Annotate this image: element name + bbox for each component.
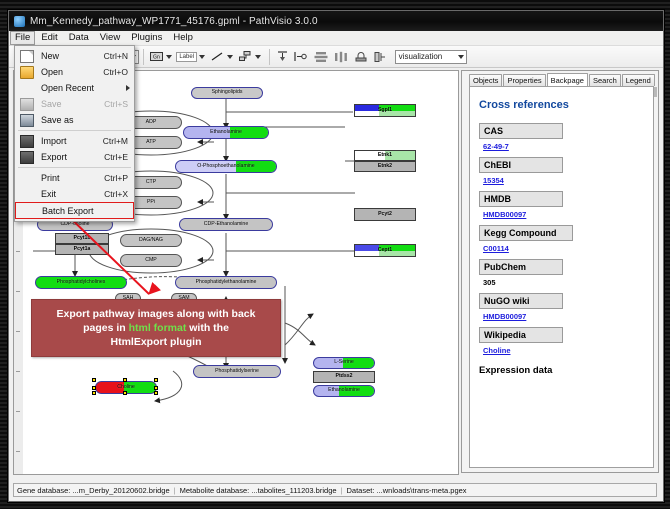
menu-edit[interactable]: Edit (36, 31, 62, 45)
status-separator: | (341, 486, 343, 495)
gene-pcyt1a[interactable]: Pcyt1a (55, 244, 109, 255)
backpage-content: Cross references CAS 62-49-7 ChEBI 15354… (469, 86, 654, 468)
visualization-select[interactable]: visualization (395, 50, 467, 64)
menu-file[interactable]: File (10, 31, 35, 45)
selection-handle[interactable] (154, 378, 158, 382)
label-tool-label: Label (176, 52, 197, 62)
xref-name: CAS (479, 123, 563, 139)
menu-item-exit[interactable]: Exit Ctrl+X (15, 186, 134, 202)
annotation-line-2: pages in html format with the (83, 321, 229, 335)
gene-pcyt2[interactable]: Pcyt2 (354, 208, 416, 221)
xref-nugo-wiki: NuGO wiki HMDB00097 (479, 293, 644, 323)
status-separator: | (174, 486, 176, 495)
menu-divider (18, 167, 131, 168)
node-sphingolipids[interactable]: Sphingolipids (191, 87, 263, 99)
pathvisio-icon (14, 16, 25, 27)
node-phosphatidylserine[interactable]: Phosphatidylserine (193, 365, 281, 378)
node-ethanolamine[interactable]: Ethanolamine (183, 126, 269, 139)
line-dropdown-icon[interactable] (227, 55, 233, 59)
menu-item-save-as[interactable]: Save as (15, 112, 134, 128)
interaction-dropdown-icon[interactable] (255, 55, 261, 59)
interaction-tool-icon[interactable] (237, 49, 254, 65)
xref-value-link[interactable]: 15354 (479, 173, 644, 187)
pathvisio-window: Mm_Kennedy_pathway_WP1771_45176.gpml - P… (8, 10, 664, 502)
tab-objects[interactable]: Objects (469, 74, 502, 86)
menu-item-export[interactable]: Export Ctrl+E (15, 149, 134, 165)
xref-value-link[interactable]: HMDB00097 (479, 207, 644, 221)
gene-pcyt1b[interactable]: Pcyt1b (55, 233, 109, 244)
line-tool-icon[interactable] (209, 49, 226, 65)
node-ethanolamine-2[interactable]: Ethanolamine (313, 385, 375, 397)
align-top-tool-icon[interactable] (274, 49, 291, 65)
xref-hmdb: HMDB HMDB00097 (479, 191, 644, 221)
gene-product-dropdown-icon[interactable] (166, 55, 172, 59)
open-folder-icon (19, 66, 35, 79)
xref-pubchem: PubChem 305 (479, 259, 644, 289)
import-icon (19, 135, 35, 148)
xref-wikipedia: Wikipedia Choline (479, 327, 644, 357)
dataset-value: ...wnloads\trans-meta.pgex (377, 486, 467, 495)
xref-name: Wikipedia (479, 327, 563, 343)
xref-name: ChEBI (479, 157, 563, 173)
gene-cept1[interactable]: Cept1 (354, 244, 416, 257)
menu-bar: File Edit Data View Plugins Help (9, 31, 663, 46)
status-bar: Gene database: ...m_Derby_20120602.bridg… (13, 483, 657, 497)
export-icon (19, 151, 35, 164)
align-left-tool-icon[interactable] (291, 49, 311, 65)
xref-value-link[interactable]: 62-49-7 (479, 139, 644, 153)
metabolite-database-label: Metabolite database: (180, 486, 250, 495)
xref-kegg-compound: Kegg Compound C00114 (479, 225, 644, 255)
label-tool-icon[interactable]: Label (176, 49, 198, 65)
selection-handle[interactable] (92, 391, 96, 395)
gene-database-value: ...m_Derby_20120602.bridge (72, 486, 169, 495)
node-phosphatidylcholines[interactable]: Phosphatidylcholines (35, 276, 127, 289)
xref-name: NuGO wiki (479, 293, 563, 309)
tab-properties[interactable]: Properties (503, 74, 545, 86)
selection-handle[interactable] (154, 391, 158, 395)
window-title-bar: Mm_Kennedy_pathway_WP1771_45176.gpml - P… (9, 11, 663, 31)
xref-name: Kegg Compound (479, 225, 573, 241)
label-dropdown-icon[interactable] (199, 55, 205, 59)
gene-ptdss2[interactable]: Ptdss2 (313, 371, 375, 383)
xref-value-link[interactable]: C00114 (479, 241, 644, 255)
group-tool-icon[interactable] (351, 49, 371, 65)
gene-sgpl1[interactable]: Sgpl1 (354, 104, 416, 117)
annotation-line-2-post: with the (186, 322, 229, 334)
xref-value: 305 (479, 275, 644, 289)
toolbar-separator (143, 49, 144, 65)
chevron-down-icon (458, 55, 464, 59)
node-cmp[interactable]: CMP (120, 254, 182, 267)
menu-item-print[interactable]: Print Ctrl+P (15, 170, 134, 186)
annotation-line-3: HtmlExport plugin (111, 335, 202, 349)
distribute-tool-icon[interactable] (331, 49, 351, 65)
save-as-icon (19, 114, 35, 127)
menu-item-save: Save Ctrl+S (15, 96, 134, 112)
xref-chebi: ChEBI 15354 (479, 157, 644, 187)
window-title: Mm_Kennedy_pathway_WP1771_45176.gpml - P… (30, 16, 318, 27)
menu-item-open[interactable]: Open Ctrl+O (15, 64, 134, 80)
svg-text:Gn: Gn (153, 55, 160, 61)
gene-etnk1[interactable]: Etnk1 (354, 150, 416, 161)
gene-product-tool-icon[interactable]: Gn (148, 49, 165, 65)
selection-handle[interactable] (92, 386, 96, 390)
node-phosphatidylethanolamine[interactable]: Phosphatidylethanolamine (175, 276, 277, 289)
xref-name: PubChem (479, 259, 563, 275)
menu-item-open-recent[interactable]: Open Recent (15, 80, 134, 96)
annotation-banner: Export pathway images along with back pa… (31, 299, 281, 357)
panel-scrollbar[interactable] (654, 87, 657, 97)
tab-backpage[interactable]: Backpage (547, 73, 588, 87)
selection-handle[interactable] (154, 386, 158, 390)
selection-handle[interactable] (123, 378, 127, 382)
menu-plugins[interactable]: Plugins (126, 31, 167, 45)
dataset-label: Dataset: (346, 486, 374, 495)
toolbar-separator (269, 49, 270, 65)
xref-cas: CAS 62-49-7 (479, 123, 644, 153)
menu-data[interactable]: Data (64, 31, 94, 45)
annotation-line-1: Export pathway images along with back (57, 307, 256, 321)
gene-database-label: Gene database: (17, 486, 70, 495)
menu-item-batch-export[interactable]: Batch Export (15, 202, 134, 219)
visualization-value: visualization (399, 52, 443, 61)
selection-handle[interactable] (123, 391, 127, 395)
xref-value-link[interactable]: Choline (479, 343, 644, 357)
menu-item-new[interactable]: New Ctrl+N (15, 48, 134, 64)
node-dag[interactable]: DAG/NAG (120, 234, 182, 247)
new-document-icon (19, 50, 35, 63)
menu-view[interactable]: View (95, 31, 125, 45)
selection-handle[interactable] (92, 378, 96, 382)
xref-name: HMDB (479, 191, 563, 207)
node-l-serine[interactable]: L-Serine (313, 357, 375, 369)
tab-search[interactable]: Search (589, 74, 621, 86)
metabolite-database-value: ...tabolites_111203.bridge (251, 486, 336, 495)
stack-tool-icon[interactable] (311, 49, 331, 65)
annotation-line-2-pre: pages in (83, 322, 129, 334)
xref-value-link[interactable]: HMDB00097 (479, 309, 644, 323)
desktop-backdrop: Mm_Kennedy_pathway_WP1771_45176.gpml - P… (0, 0, 670, 509)
menu-item-import[interactable]: Import Ctrl+M (15, 133, 134, 149)
visualization-tool-icon[interactable] (371, 49, 391, 65)
menu-divider (18, 130, 131, 131)
node-cdp-ethanolamine[interactable]: CDP-Ethanolamine (179, 218, 273, 231)
expression-data-heading: Expression data (479, 365, 644, 376)
cross-references-heading: Cross references (479, 99, 644, 111)
file-menu-popup[interactable]: New Ctrl+N Open Ctrl+O Open Recent Save … (14, 45, 135, 222)
node-o-phosphoethanolamine[interactable]: O-Phosphoethanolamine (175, 160, 277, 173)
menu-help[interactable]: Help (168, 31, 198, 45)
tab-legend[interactable]: Legend (622, 74, 655, 86)
gene-etnk2[interactable]: Etnk2 (354, 161, 416, 172)
side-panel: Objects Properties Backpage Search Legen… (461, 70, 659, 473)
side-panel-tabs: Objects Properties Backpage Search Legen… (462, 71, 658, 86)
save-icon (19, 98, 35, 111)
annotation-highlight: html format (129, 322, 187, 334)
